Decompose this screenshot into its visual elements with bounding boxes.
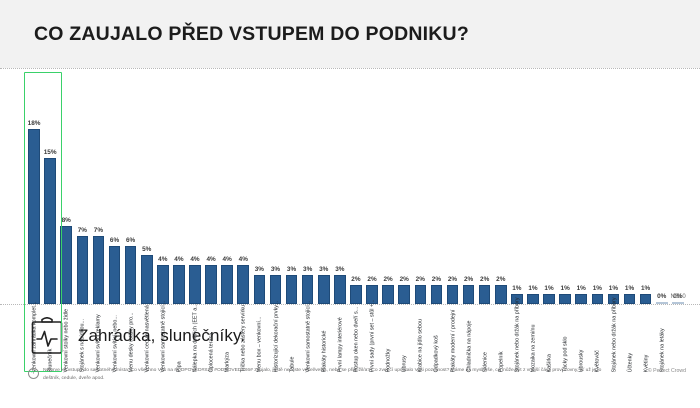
bar-column[interactable]: 3% [316, 76, 332, 304]
bar-rect[interactable] [254, 275, 266, 304]
bar-rect[interactable] [398, 285, 410, 304]
bar-column[interactable]: 2% [412, 76, 428, 304]
bar-column[interactable]: 18% [26, 76, 42, 304]
bar-rect[interactable] [237, 265, 249, 304]
bar-column[interactable]: 2% [380, 76, 396, 304]
insight-block: Zahrádka, slunečníky. [0, 305, 700, 361]
bar-rect[interactable] [77, 236, 89, 304]
bar-value-label: 2% [351, 277, 360, 283]
bar-rect[interactable] [141, 255, 153, 304]
bar-column[interactable]: 6% [106, 76, 122, 304]
bar-value-label: 1% [544, 286, 553, 292]
bar-column[interactable]: 7% [90, 76, 106, 304]
bar-chart-plot: 18%15%8%7%7%6%6%5%4%4%4%4%4%4%3%3%3%3%3%… [12, 76, 688, 304]
bar-column[interactable]: 3% [267, 76, 283, 304]
bar-rect[interactable] [382, 285, 394, 304]
bar-value-label: 2% [496, 277, 505, 283]
bar-column[interactable]: 2% [348, 76, 364, 304]
bar-rect[interactable] [221, 265, 233, 304]
bar-column[interactable]: 1% [557, 76, 573, 304]
bar-value-label: 4% [206, 257, 215, 263]
bar-rect[interactable] [592, 294, 604, 304]
bar-rect[interactable] [270, 275, 282, 304]
bar-value-label: 7% [78, 228, 87, 234]
bar-column[interactable]: 2% [493, 76, 509, 304]
bar-column[interactable]: 3% [284, 76, 300, 304]
bar-value-label: 2% [448, 277, 457, 283]
bar-column[interactable]: 3% [332, 76, 348, 304]
bar-value-label: 1% [528, 286, 537, 292]
bar-value-label: 0% [657, 294, 666, 300]
bar-column[interactable]: 1% [573, 76, 589, 304]
bar-column[interactable]: 0% [670, 76, 686, 304]
bar-rect[interactable] [656, 302, 668, 304]
bar-column[interactable]: 3% [300, 76, 316, 304]
bar-rect[interactable] [189, 265, 201, 304]
bar-value-label: 2% [367, 277, 376, 283]
bar-value-label: 4% [239, 257, 248, 263]
bar-value-label: 2% [383, 277, 392, 283]
footnote-text: Nejprve ke vstupu do samotného místa. Co… [43, 367, 603, 382]
bar-value-label: 4% [223, 257, 232, 263]
bar-rect[interactable] [415, 285, 427, 304]
bar-value-label: 1% [625, 286, 634, 292]
page-title: CO ZAUJALO PŘED VSTUPEM DO PODNIKU? [34, 23, 469, 46]
bar-column[interactable]: 0% [654, 76, 670, 304]
bar-rect[interactable] [173, 265, 185, 304]
bar-value-label: 7% [94, 228, 103, 234]
bar-value-label: 4% [174, 257, 183, 263]
bar-value-label: 1% [577, 286, 586, 292]
bar-column[interactable]: 4% [171, 76, 187, 304]
bar-column[interactable]: 1% [541, 76, 557, 304]
bar-column[interactable]: 15% [42, 76, 58, 304]
bar-value-label: 6% [126, 238, 135, 244]
bar-rect[interactable] [527, 294, 539, 304]
bar-value-label: 6% [110, 238, 119, 244]
bar-rect[interactable] [543, 294, 555, 304]
bar-column[interactable]: 1% [621, 76, 637, 304]
bar-value-label: 1% [641, 286, 650, 292]
bar-value-label: 4% [158, 257, 167, 263]
bar-value-label: 4% [190, 257, 199, 263]
bar-value-label: 3% [287, 267, 296, 273]
bar-rect[interactable] [286, 275, 298, 304]
bar-value-label: 3% [255, 267, 264, 273]
bar-column[interactable]: 7% [74, 76, 90, 304]
bar-column[interactable]: 6% [123, 76, 139, 304]
bar-value-label: 1% [561, 286, 570, 292]
bar-column[interactable]: 2% [428, 76, 444, 304]
bar-rect[interactable] [366, 285, 378, 304]
sample-size-label: N610 [670, 294, 686, 300]
bar-column[interactable]: 4% [219, 76, 235, 304]
bar-value-label: 18% [28, 121, 41, 127]
bar-column[interactable]: 5% [139, 76, 155, 304]
bar-column[interactable]: 2% [396, 76, 412, 304]
insight-text: Zahrádka, slunečníky. [78, 326, 245, 346]
bar-rect[interactable] [640, 294, 652, 304]
bar-column[interactable]: 2% [444, 76, 460, 304]
bar-rect[interactable] [205, 265, 217, 304]
bar-value-label: 2% [416, 277, 425, 283]
bar-column[interactable]: 2% [461, 76, 477, 304]
bar-rect[interactable] [463, 285, 475, 304]
bar-rect[interactable] [93, 236, 105, 304]
bar-value-label: 1% [512, 286, 521, 292]
bar-rect[interactable] [575, 294, 587, 304]
bar-value-label: 1% [593, 286, 602, 292]
bar-value-label: 3% [319, 267, 328, 273]
bar-rect[interactable] [125, 246, 137, 304]
bar-rect[interactable] [60, 226, 72, 304]
bar-value-label: 1% [609, 286, 618, 292]
bar-rect[interactable] [157, 265, 169, 304]
bar-value-label: 2% [480, 277, 489, 283]
bar-value-label: 15% [44, 150, 57, 156]
bar-column[interactable]: 4% [155, 76, 171, 304]
bar-value-label: 3% [271, 267, 280, 273]
bar-value-label: 5% [142, 247, 151, 253]
slide-header: CO ZAUJALO PŘED VSTUPEM DO PODNIKU? [0, 0, 700, 68]
bar-column[interactable]: 1% [605, 76, 621, 304]
copyright-label: © Perfect Crowd [648, 368, 686, 374]
bar-rect[interactable] [350, 285, 362, 304]
bar-rect[interactable] [559, 294, 571, 304]
chart-region: 18%15%8%7%7%6%6%5%4%4%4%4%4%4%3%3%3%3%3%… [0, 70, 700, 304]
bar-rect[interactable] [44, 158, 56, 304]
bar-rect[interactable] [672, 302, 684, 304]
bar-column[interactable]: 4% [187, 76, 203, 304]
bar-rect[interactable] [28, 129, 40, 304]
bar-value-label: 2% [400, 277, 409, 283]
bar-rect[interactable] [447, 285, 459, 304]
bar-column[interactable]: 2% [477, 76, 493, 304]
bar-column[interactable]: 4% [203, 76, 219, 304]
bar-rect[interactable] [318, 275, 330, 304]
bar-rect[interactable] [334, 275, 346, 304]
bar-value-label: 3% [335, 267, 344, 273]
bar-column[interactable]: 2% [364, 76, 380, 304]
bar-column[interactable]: 3% [251, 76, 267, 304]
bar-column[interactable]: 1% [589, 76, 605, 304]
clipboard-pulse-icon [30, 317, 64, 355]
footnote-block: ? Nejprve ke vstupu do samotného místa. … [0, 361, 700, 382]
bar-rect[interactable] [431, 285, 443, 304]
bar-column[interactable]: 1% [525, 76, 541, 304]
bar-value-label: 2% [432, 277, 441, 283]
bar-rect[interactable] [624, 294, 636, 304]
bar-rect[interactable] [495, 285, 507, 304]
bar-rect[interactable] [608, 294, 620, 304]
bar-column[interactable]: 1% [638, 76, 654, 304]
bar-value-label: 3% [303, 267, 312, 273]
bar-rect[interactable] [479, 285, 491, 304]
bar-value-label: 8% [62, 218, 71, 224]
bar-column[interactable]: 8% [58, 76, 74, 304]
question-mark-icon: ? [28, 368, 39, 379]
bar-rect[interactable] [511, 294, 523, 304]
bar-column[interactable]: 4% [235, 76, 251, 304]
bar-rect[interactable] [109, 246, 121, 304]
bar-rect[interactable] [302, 275, 314, 304]
bar-column[interactable]: 1% [509, 76, 525, 304]
bar-value-label: 2% [464, 277, 473, 283]
